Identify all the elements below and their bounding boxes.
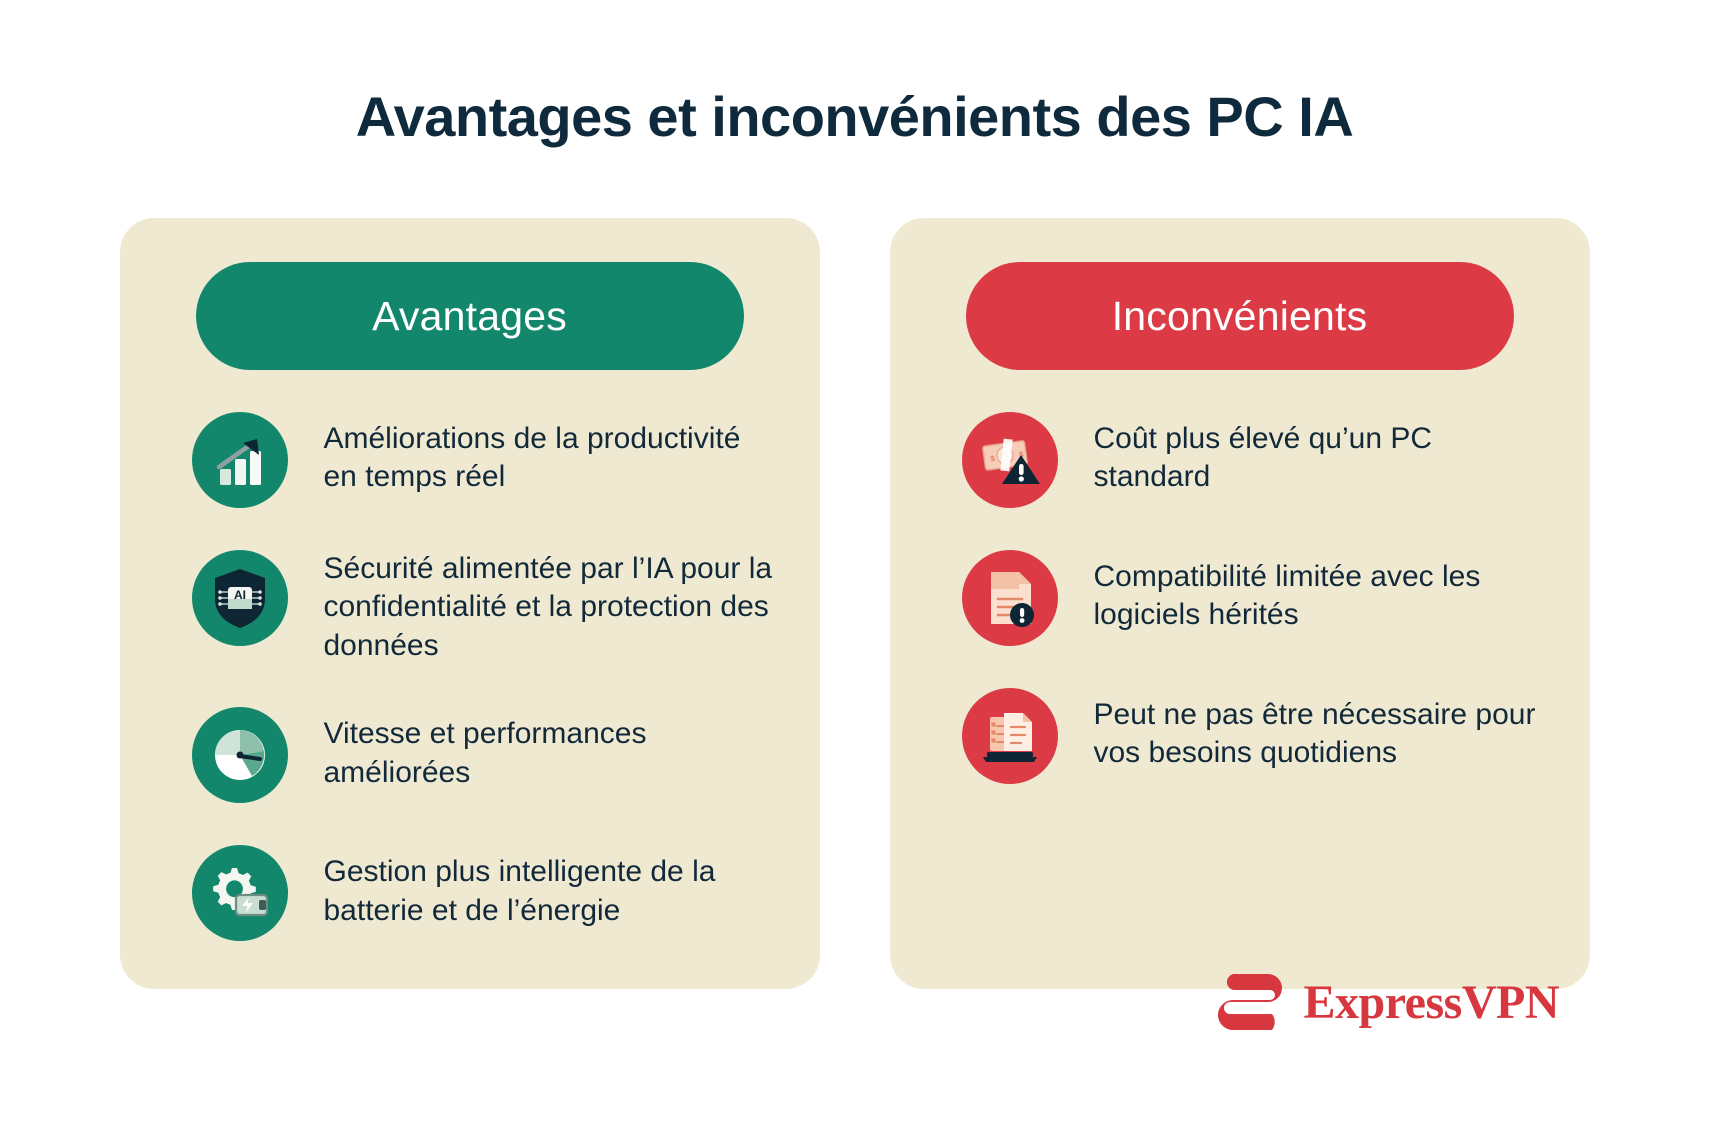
cons-card: Inconvénients $ $ $	[890, 218, 1590, 989]
list-item-label: Vitesse et performances améliorées	[324, 707, 774, 792]
list-item-label: Améliorations de la productivité en temp…	[324, 412, 774, 497]
list-item-label: Sécurité alimentée par l’IA pour la conf…	[324, 550, 774, 665]
cons-heading-pill: Inconvénients	[966, 262, 1514, 370]
pros-card: Avantages Améliorations de la productivi…	[120, 218, 820, 989]
expressvpn-e-mark-icon	[1214, 971, 1288, 1033]
comparison-columns: Avantages Améliorations de la productivi…	[0, 218, 1709, 989]
speed-gauge-icon	[192, 707, 288, 803]
laptop-checklist-icon	[962, 688, 1058, 784]
expressvpn-logo: ExpressVPN	[1214, 971, 1559, 1033]
list-item-label: Coût plus élevé qu’un PC standard	[1094, 412, 1544, 497]
pros-heading-pill: Avantages	[196, 262, 744, 370]
expressvpn-wordmark: ExpressVPN	[1304, 975, 1559, 1030]
list-item: Gestion plus intelligente de la batterie…	[166, 845, 774, 941]
pros-heading-label: Avantages	[372, 293, 567, 340]
shield-ai-icon: AI	[192, 550, 288, 646]
bar-chart-growth-icon	[192, 412, 288, 508]
list-item: Compatibilité limitée avec les logiciels…	[936, 550, 1544, 646]
gear-battery-icon	[192, 845, 288, 941]
page-title: Avantages et inconvénients des PC IA	[0, 84, 1709, 149]
list-item: Améliorations de la productivité en temp…	[166, 412, 774, 508]
infographic-page: Avantages et inconvénients des PC IA Ava…	[0, 0, 1709, 1121]
list-item-label: Gestion plus intelligente de la batterie…	[324, 845, 774, 930]
list-item-label: Compatibilité limitée avec les logiciels…	[1094, 550, 1544, 635]
cons-heading-label: Inconvénients	[1112, 293, 1368, 340]
list-item: Peut ne pas être nécessaire pour vos bes…	[936, 688, 1544, 784]
money-warning-icon: $ $ $	[962, 412, 1058, 508]
list-item: Vitesse et performances améliorées	[166, 707, 774, 803]
document-alert-icon	[962, 550, 1058, 646]
list-item: $ $ $ Coût plus élevé qu’un PC standard	[936, 412, 1544, 508]
pros-list: Améliorations de la productivité en temp…	[166, 412, 774, 941]
list-item-label: Peut ne pas être nécessaire pour vos bes…	[1094, 688, 1544, 773]
list-item: AI Sécurité alimentée par l’IA pour la	[166, 550, 774, 665]
svg-text:AI: AI	[234, 588, 246, 602]
cons-list: $ $ $ Coût plus élevé qu’un PC standard	[936, 412, 1544, 784]
